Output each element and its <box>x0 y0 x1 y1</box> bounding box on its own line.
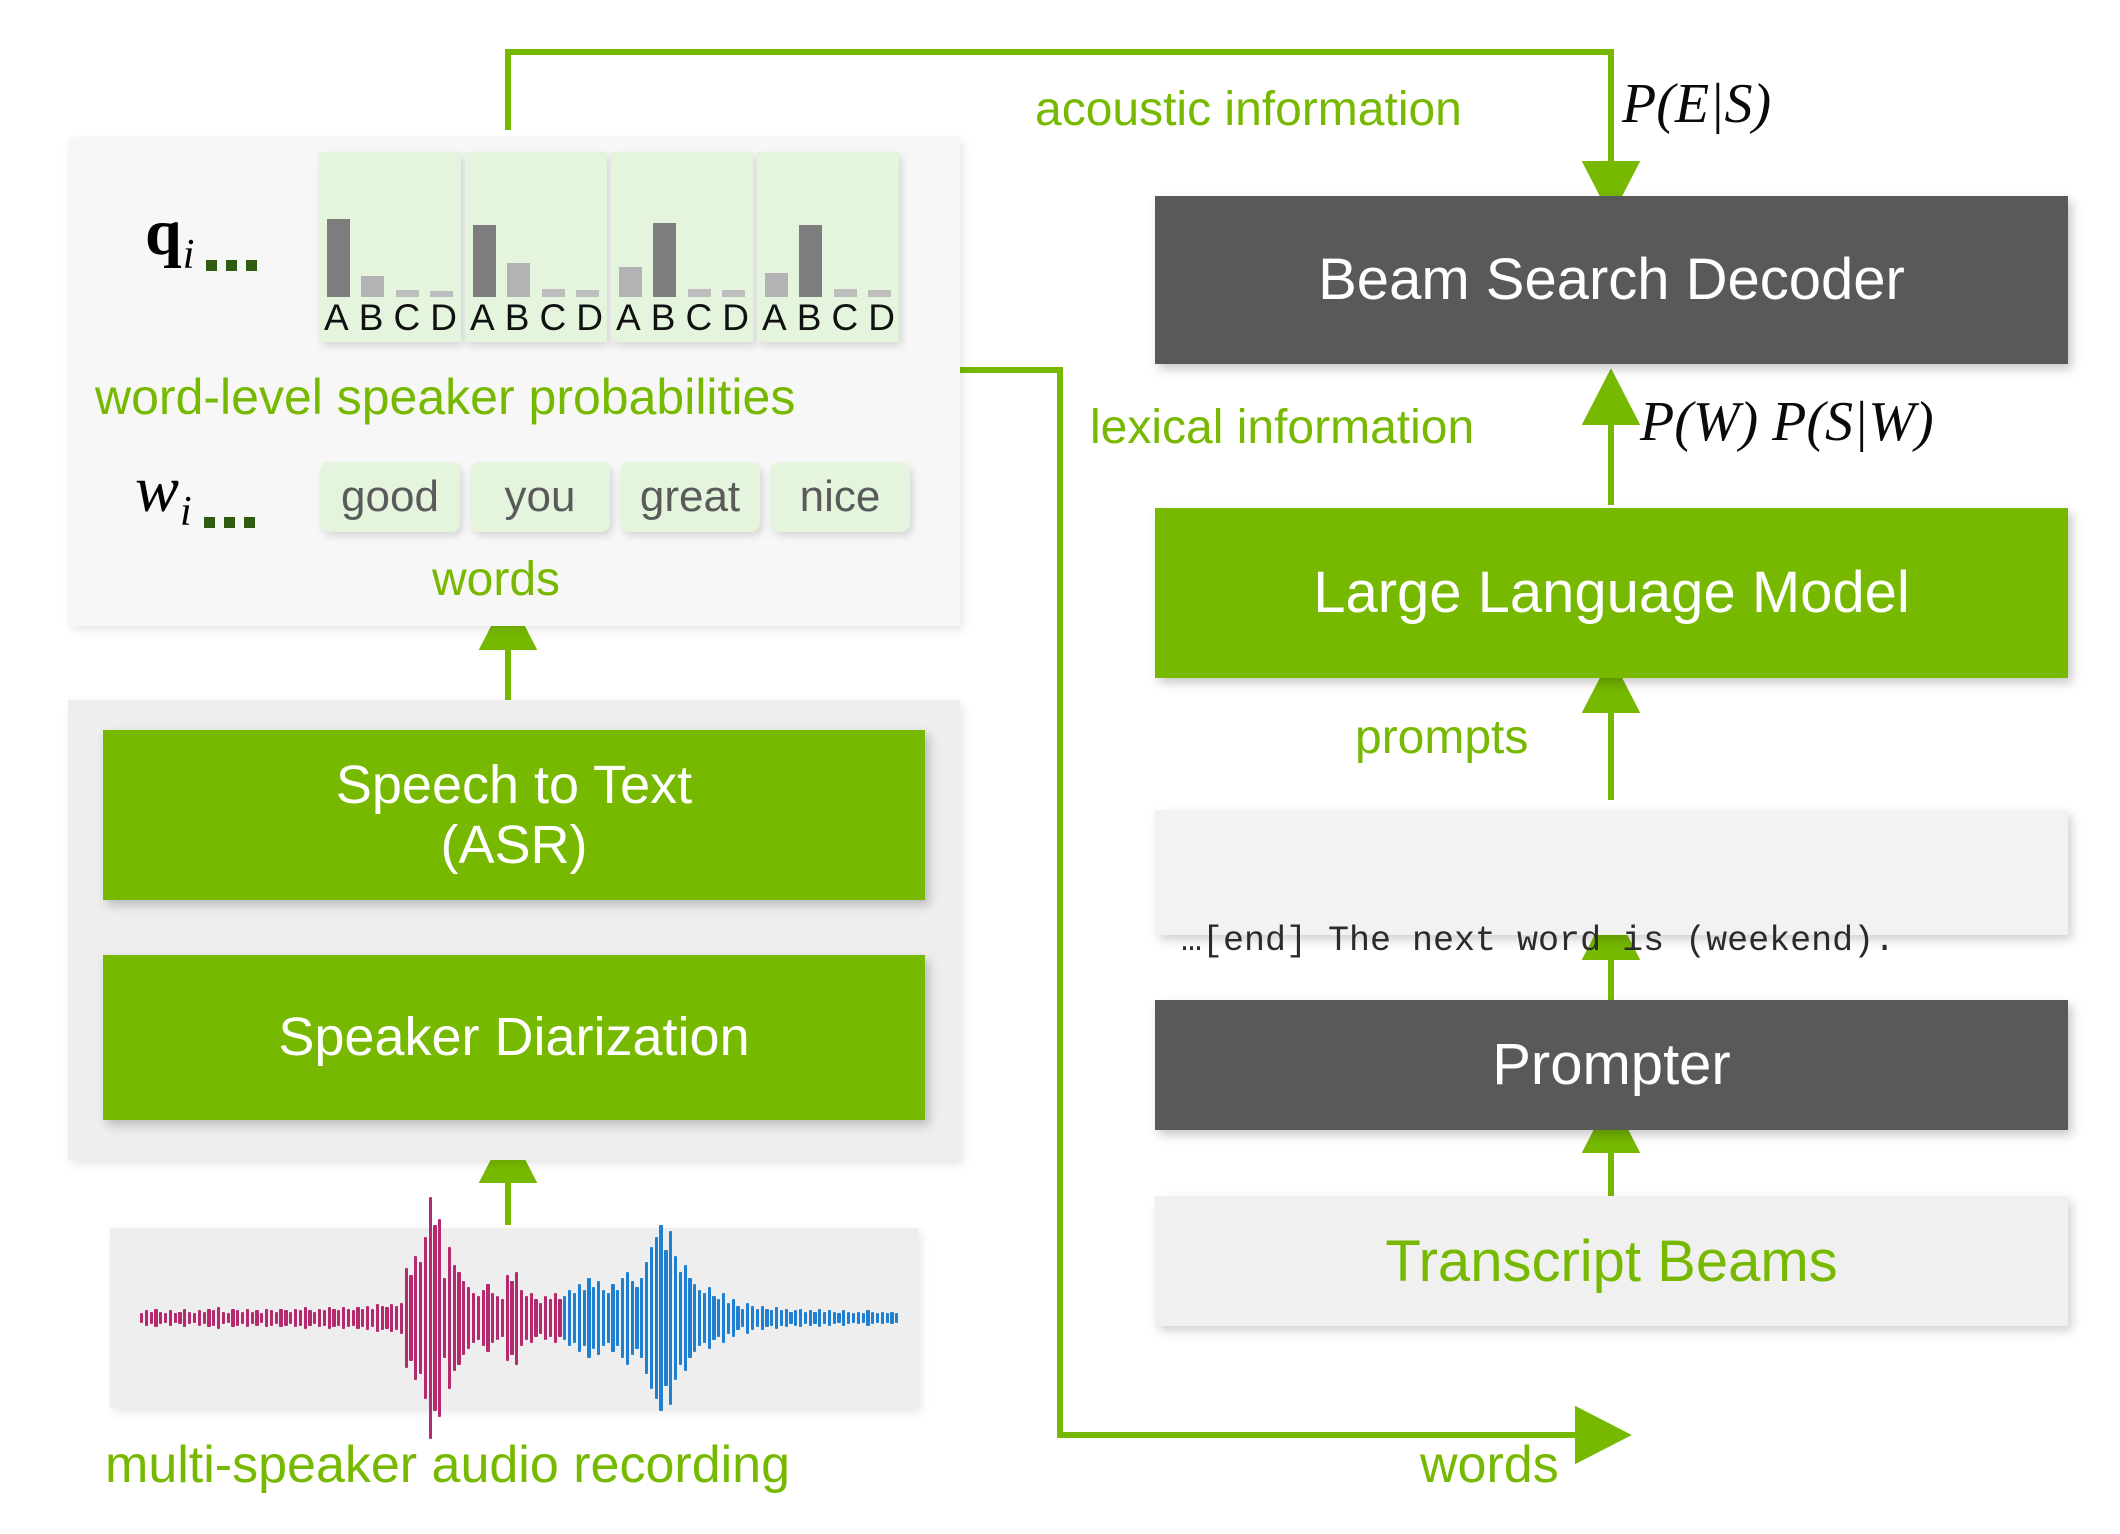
waveform-bar <box>145 1310 148 1326</box>
waveform-bar <box>857 1312 860 1324</box>
waveform-bar <box>174 1313 177 1322</box>
waveform-bar <box>645 1262 648 1374</box>
waveform-bar <box>842 1310 845 1326</box>
waveform-bar <box>159 1312 162 1324</box>
waveform-bar <box>361 1309 364 1328</box>
waveform-bar <box>520 1290 523 1346</box>
waveform-bar <box>837 1313 840 1322</box>
waveform-bar <box>414 1256 417 1380</box>
waveform-bar <box>352 1310 355 1326</box>
waveform-bar <box>385 1307 388 1329</box>
waveform-bar <box>366 1306 369 1331</box>
waveform-bar <box>337 1310 340 1326</box>
waveform-bar <box>506 1275 509 1362</box>
waveform-bar <box>270 1310 273 1326</box>
waveform-bar <box>852 1313 855 1322</box>
q-symbol-letter: q <box>145 196 182 269</box>
waveform-bar <box>198 1310 201 1326</box>
waveform-bar <box>429 1197 432 1439</box>
w-symbol: wi <box>135 452 255 536</box>
waveform-bar <box>712 1296 715 1339</box>
waveform-bar <box>895 1313 898 1322</box>
waveform-bar <box>313 1312 316 1324</box>
waveform-bar <box>409 1275 412 1362</box>
waveform-bar <box>862 1313 865 1322</box>
axis-tick-d: D <box>722 297 748 339</box>
waveform-bar <box>607 1293 610 1343</box>
waveform-bar <box>780 1310 783 1326</box>
axis-tick-d: D <box>430 297 456 339</box>
waveform-bar <box>299 1310 302 1326</box>
large-language-model-label: Large Language Model <box>1313 561 1910 626</box>
axis-tick-c: C <box>539 297 565 339</box>
waveform-bar <box>328 1307 331 1329</box>
waveform-bar <box>222 1312 225 1324</box>
prompter-box[interactable]: Prompter <box>1155 1000 2068 1130</box>
waveform-bar <box>217 1307 220 1329</box>
waveform-bar <box>794 1310 797 1326</box>
waveform-bar <box>227 1313 230 1322</box>
waveform-bar <box>381 1306 384 1331</box>
waveform-bar <box>765 1309 768 1328</box>
waveform-bar <box>462 1281 465 1355</box>
prompt-text-box[interactable]: …[end] The next word is (weekend). Who s… <box>1155 810 2068 935</box>
waveform-bar <box>756 1309 759 1328</box>
waveform-bar <box>655 1237 658 1398</box>
waveform-bar <box>472 1293 475 1343</box>
speaker-diarization-label: Speaker Diarization <box>278 1007 749 1067</box>
diagram-canvas: qi A B C D A B C D <box>0 0 2120 1534</box>
waveform-bar <box>736 1306 739 1331</box>
histogram-bars <box>611 195 753 297</box>
waveform-bar <box>732 1299 735 1336</box>
w-symbol-letter: w <box>135 453 179 526</box>
transcript-beams-box[interactable]: Transcript Beams <box>1155 1196 2068 1326</box>
word-chip: nice <box>770 462 910 532</box>
waveform-bar <box>424 1237 427 1398</box>
waveform-bar <box>169 1310 172 1326</box>
waveform-bar <box>635 1287 638 1349</box>
waveform-bar <box>178 1312 181 1324</box>
w-symbol-subscript: i <box>180 489 192 535</box>
waveform-bar <box>809 1310 812 1326</box>
waveform-bar <box>684 1265 687 1370</box>
waveform-bar <box>727 1303 730 1334</box>
waveform-bar <box>549 1299 552 1336</box>
waveform-bar <box>640 1278 643 1359</box>
waveform-bar <box>251 1312 254 1324</box>
histogram-card: A B C D <box>319 152 461 342</box>
waveform-bar <box>866 1310 869 1326</box>
word-chip: good <box>320 462 460 532</box>
beam-search-decoder-label: Beam Search Decoder <box>1318 248 1905 313</box>
axis-tick-b: B <box>505 297 529 339</box>
waveform-bar <box>265 1309 268 1328</box>
waveform-bar <box>871 1312 874 1324</box>
waveform-bar <box>457 1272 460 1365</box>
words-edge-label: words <box>1420 1435 1559 1495</box>
waveform-bar <box>477 1296 480 1339</box>
probabilities-caption: word-level speaker probabilities <box>95 368 795 426</box>
word-chip: great <box>620 462 760 532</box>
waveform-bar <box>785 1309 788 1328</box>
waveform-bar <box>212 1310 215 1326</box>
speaker-diarization-box[interactable]: Speaker Diarization <box>103 955 925 1120</box>
waveform-bar <box>246 1309 249 1328</box>
waveform-bar <box>770 1310 773 1326</box>
histogram-bars <box>465 195 607 297</box>
waveform-bar <box>669 1231 672 1405</box>
waveform-bar <box>679 1272 682 1365</box>
waveform-bar <box>443 1278 446 1359</box>
waveform-bar <box>847 1312 850 1324</box>
words-caption: words <box>432 552 560 607</box>
waveform-bar <box>236 1310 239 1326</box>
w-ellipsis-dots <box>204 517 255 528</box>
waveform-bar <box>602 1290 605 1346</box>
histogram-card: A B C D <box>757 152 899 342</box>
histogram-card: A B C D <box>465 152 607 342</box>
waveform-bar <box>558 1299 561 1336</box>
waveform-bar <box>890 1312 893 1324</box>
waveform-bar <box>400 1303 403 1334</box>
waveform-bar <box>804 1312 807 1324</box>
waveform-bar <box>568 1290 571 1346</box>
axis-tick-a: A <box>470 297 494 339</box>
waveform-bar <box>626 1272 629 1365</box>
histogram-axis-labels: A B C D <box>757 297 899 342</box>
waveform-bar <box>775 1307 778 1329</box>
waveform-bar <box>308 1310 311 1326</box>
axis-tick-c: C <box>831 297 857 339</box>
waveform-bar <box>260 1313 263 1322</box>
waveform-bar <box>453 1265 456 1370</box>
waveform-bar <box>631 1281 634 1355</box>
histogram-axis-labels: A B C D <box>611 297 753 342</box>
waveform-bar <box>722 1293 725 1343</box>
waveform-bar <box>698 1290 701 1346</box>
waveform-bar <box>876 1313 879 1322</box>
waveform-bar <box>886 1313 889 1322</box>
waveform-bar <box>563 1296 566 1339</box>
waveform-bar <box>573 1293 576 1343</box>
waveform-bar <box>587 1278 590 1359</box>
axis-tick-a: A <box>616 297 640 339</box>
waveform-bar <box>203 1312 206 1324</box>
waveform-bar <box>828 1310 831 1326</box>
waveform-bar <box>255 1310 258 1326</box>
transcript-beams-label: Transcript Beams <box>1385 1228 1837 1295</box>
waveform-bar <box>833 1312 836 1324</box>
axis-tick-c: C <box>685 297 711 339</box>
speech-to-text-label-line2: (ASR) <box>441 815 588 875</box>
waveform-bar <box>717 1299 720 1336</box>
waveform-bar <box>688 1278 691 1359</box>
waveform-bar <box>674 1256 677 1380</box>
waveform-bar <box>616 1290 619 1346</box>
prompt-text-line1: …[end] The next word is (weekend). <box>1181 919 2042 965</box>
waveform-bar <box>207 1309 210 1328</box>
waveform-bar <box>708 1287 711 1349</box>
acoustic-information-label: acoustic information <box>1035 82 1462 137</box>
waveform-bar <box>342 1307 345 1329</box>
lexical-information-label: lexical information <box>1090 400 1474 455</box>
waveform-bar <box>289 1312 292 1324</box>
prompts-label: prompts <box>1355 710 1528 765</box>
waveform-bar <box>356 1307 359 1329</box>
waveform-bar <box>501 1299 504 1336</box>
word-chip: you <box>470 462 610 532</box>
waveform-bar <box>332 1309 335 1328</box>
prompter-label: Prompter <box>1492 1033 1731 1098</box>
waveform-bar <box>241 1312 244 1324</box>
waveform-bar <box>583 1290 586 1346</box>
waveform-bar <box>789 1312 792 1324</box>
waveform-bar <box>597 1281 600 1355</box>
axis-tick-c: C <box>393 297 419 339</box>
speech-to-text-box[interactable]: Speech to Text (ASR) <box>103 730 925 900</box>
waveform-bar <box>534 1299 537 1336</box>
histogram-bars <box>319 195 461 297</box>
waveform-bar <box>371 1309 374 1328</box>
histogram-bars <box>757 195 899 297</box>
waveform-bar <box>419 1262 422 1374</box>
waveform-bar <box>183 1309 186 1328</box>
waveform-bar <box>390 1304 393 1332</box>
histogram-axis-labels: A B C D <box>319 297 461 342</box>
histogram-card: A B C D <box>611 152 753 342</box>
waveform-bar <box>813 1312 816 1324</box>
waveform-bar <box>294 1309 297 1328</box>
waveform-bar <box>510 1281 513 1355</box>
waveform-bar <box>318 1309 321 1328</box>
waveform-bar <box>154 1309 157 1328</box>
waveform-bar <box>703 1293 706 1343</box>
waveform-bar <box>746 1303 749 1334</box>
axis-tick-a: A <box>324 297 348 339</box>
waveform-bar <box>284 1310 287 1326</box>
axis-tick-a: A <box>762 297 786 339</box>
waveform-bar <box>525 1296 528 1339</box>
waveform-bar <box>751 1306 754 1331</box>
waveform-bar <box>881 1312 884 1324</box>
waveform-bar <box>544 1296 547 1339</box>
axis-tick-d: D <box>576 297 602 339</box>
waveform-bar <box>433 1225 436 1411</box>
lexical-information-math: P(W) P(S|W) <box>1640 390 1934 454</box>
waveform-bar <box>486 1284 489 1352</box>
waveform-bar <box>823 1312 826 1324</box>
waveform-bar <box>395 1306 398 1331</box>
waveform-bar <box>150 1312 153 1324</box>
waveform-bar <box>818 1309 821 1328</box>
waveform-bar <box>539 1303 542 1334</box>
waveform-bar <box>650 1247 653 1390</box>
axis-tick-d: D <box>868 297 894 339</box>
waveform-bar <box>799 1309 802 1328</box>
waveform-bar <box>467 1287 470 1349</box>
waveform-bar <box>231 1309 234 1328</box>
waveform-bar <box>496 1296 499 1339</box>
waveform-bar <box>741 1309 744 1328</box>
waveform-bar <box>621 1278 624 1359</box>
beam-search-decoder-box[interactable]: Beam Search Decoder <box>1155 196 2068 364</box>
axis-tick-b: B <box>651 297 675 339</box>
waveform-bar <box>323 1310 326 1326</box>
audio-caption: multi-speaker audio recording <box>105 1435 790 1495</box>
waveform-bar <box>592 1287 595 1349</box>
waveform-bar <box>554 1293 557 1343</box>
waveform-bar <box>530 1293 533 1343</box>
histogram-axis-labels: A B C D <box>465 297 607 342</box>
waveform-bar <box>304 1307 307 1329</box>
waveform-bar <box>482 1290 485 1346</box>
waveform-bar <box>376 1304 379 1332</box>
waveform-bar <box>164 1313 167 1322</box>
q-symbol-subscript: i <box>183 232 195 278</box>
audio-waveform <box>140 1228 900 1408</box>
axis-tick-b: B <box>797 297 821 339</box>
speech-to-text-label-line1: Speech to Text <box>336 755 692 815</box>
waveform-bar <box>188 1312 191 1324</box>
waveform-bar <box>761 1306 764 1331</box>
q-ellipsis-dots <box>206 260 257 271</box>
waveform-bar <box>438 1219 441 1417</box>
waveform-bar <box>515 1272 518 1365</box>
q-symbol: qi <box>145 195 257 279</box>
waveform-bar <box>448 1247 451 1390</box>
axis-tick-b: B <box>359 297 383 339</box>
waveform-bar <box>193 1313 196 1322</box>
waveform-bar <box>279 1309 282 1328</box>
waveform-bar <box>491 1293 494 1343</box>
waveform-bar <box>578 1284 581 1352</box>
waveform-bar <box>405 1268 408 1367</box>
acoustic-information-math: P(E|S) <box>1622 72 1771 136</box>
waveform-bar <box>693 1284 696 1352</box>
waveform-bar <box>659 1225 662 1411</box>
waveform-bar <box>275 1312 278 1324</box>
waveform-bar <box>347 1309 350 1328</box>
large-language-model-box[interactable]: Large Language Model <box>1155 508 2068 678</box>
waveform-bar <box>611 1284 614 1352</box>
waveform-bar <box>140 1313 143 1322</box>
waveform-bar <box>664 1250 667 1386</box>
